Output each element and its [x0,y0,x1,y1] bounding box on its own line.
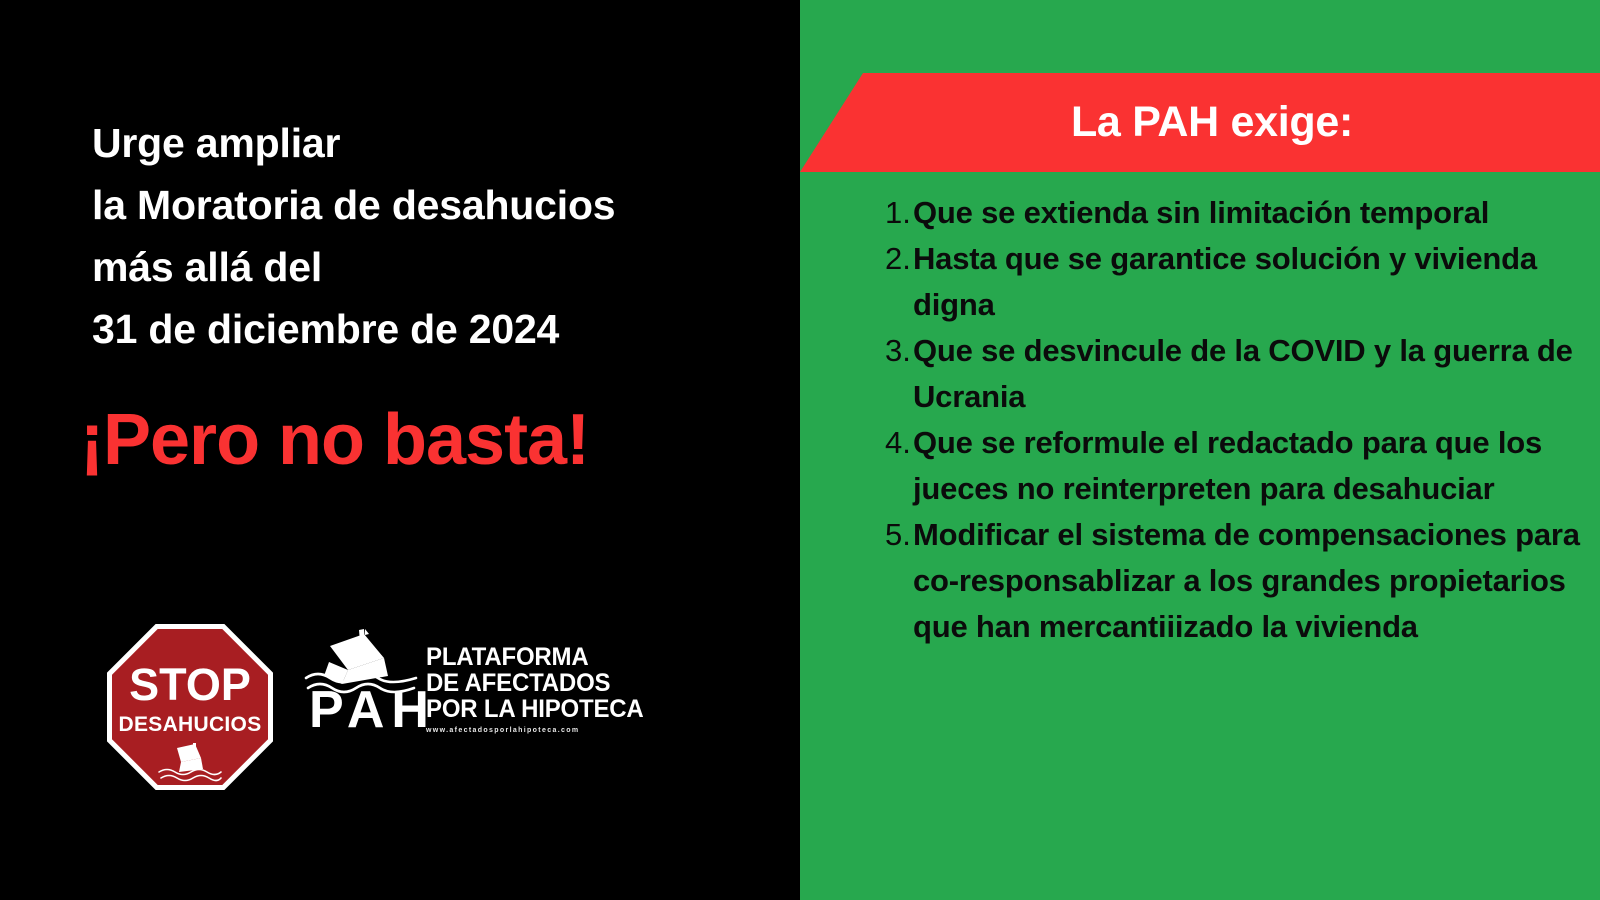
banner-title: La PAH exige: [800,73,1600,172]
right-green-panel: La PAH exige: 1. Que se extienda sin lim… [800,0,1600,900]
list-item-number: 4. [885,420,913,466]
list-item: 5. Modificar el sistema de compensacione… [885,512,1585,650]
headline-block: Urge ampliar la Moratoria de desahucios … [92,112,762,360]
list-item-text: Modificar el sistema de compensaciones p… [913,512,1585,650]
sinking-house-icon [155,742,225,784]
pah-logo-text: PLATAFORMA DE AFECTADOS POR LA HIPOTECA … [426,644,642,735]
poster-canvas: Urge ampliar la Moratoria de desahucios … [0,0,1600,900]
list-item-number: 2. [885,236,913,282]
list-item-number: 1. [885,190,913,236]
list-item: 2. Hasta que se garantice solución y viv… [885,236,1585,328]
demands-list: 1. Que se extienda sin limitación tempor… [885,190,1585,650]
slogan-pero-no-basta: ¡Pero no basta! [80,398,589,482]
pah-logo-url: www.afectadosporlahipoteca.com [426,726,642,735]
stop-logo-word: STOP [107,662,273,707]
headline-line-2: la Moratoria de desahucios [92,174,762,236]
list-item-text: Que se extienda sin limitación temporal [913,190,1585,236]
left-black-panel: Urge ampliar la Moratoria de desahucios … [0,0,800,900]
pah-logo-letters: PAH [302,684,420,736]
list-item: 1. Que se extienda sin limitación tempor… [885,190,1585,236]
stop-logo-subword: DESAHUCIOS [107,714,273,735]
pah-text-line-3: POR LA HIPOTECA [426,696,633,722]
list-item-number: 5. [885,512,913,558]
list-item: 3. Que se desvincule de la COVID y la gu… [885,328,1585,420]
list-item-text: Que se desvincule de la COVID y la guerr… [913,328,1585,420]
list-item-number: 3. [885,328,913,374]
headline-line-4: 31 de diciembre de 2024 [92,298,762,360]
list-item-text: Hasta que se garantice solución y vivien… [913,236,1585,328]
pah-text-line-1: PLATAFORMA [426,644,633,670]
headline-line-3: más allá del [92,236,762,298]
list-item-text: Que se reformule el redactado para que l… [913,420,1585,512]
list-item: 4. Que se reformule el redactado para qu… [885,420,1585,512]
stop-desahucios-logo: STOP DESAHUCIOS [107,624,273,790]
pah-logo: PAH PLATAFORMA DE AFECTADOS POR LA HIPOT… [302,622,642,792]
headline-line-1: Urge ampliar [92,112,762,174]
pah-text-line-2: DE AFECTADOS [426,670,633,696]
logo-row: STOP DESAHUCIOS [92,612,652,792]
